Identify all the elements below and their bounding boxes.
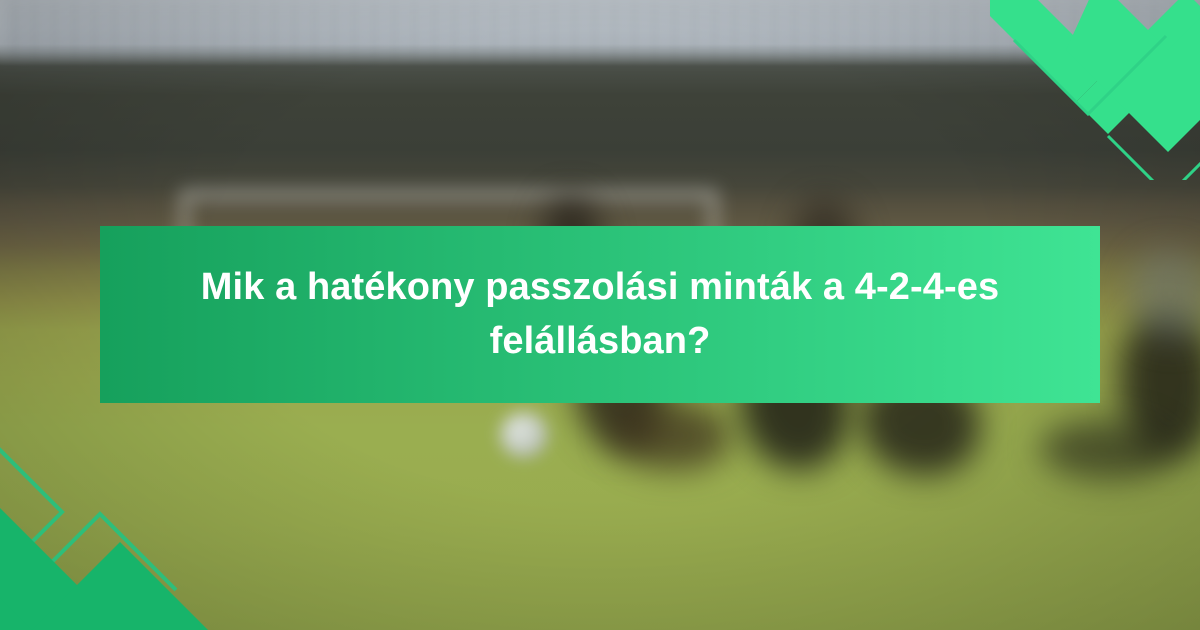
outline-chevron-up-icon: [0, 430, 62, 580]
stadium-roof-stripes: [0, 0, 1200, 60]
outline-chevron-up-icon-2: [34, 514, 176, 590]
chevron-cluster-bottom-left: [0, 430, 230, 630]
filled-chevron-up-icon: [0, 508, 84, 630]
filled-chevron-up-icon-3: [0, 598, 50, 630]
player-blur-3: [610, 400, 730, 470]
title-banner: Mik a hatékony passzolási minták a 4-2-4…: [100, 226, 1100, 403]
filled-chevron-down-icon: [990, 0, 1108, 102]
filled-chevron-down-icon-3: [1066, 0, 1168, 152]
outline-chevron-down-icon: [1014, 36, 1166, 114]
player-blur-9: [1040, 420, 1170, 480]
football-blur: [500, 412, 548, 458]
filled-chevron-up-icon-2: [4, 542, 230, 630]
outline-chevron-down-icon-2: [1108, 128, 1200, 180]
filled-chevron-down-icon-2: [1076, 0, 1200, 134]
chevron-cluster-top-right: [990, 0, 1200, 180]
social-share-card: Mik a hatékony passzolási minták a 4-2-4…: [0, 0, 1200, 630]
page-title: Mik a hatékony passzolási minták a 4-2-4…: [160, 261, 1040, 369]
filled-chevron-down-icon-4: [1168, 0, 1200, 152]
